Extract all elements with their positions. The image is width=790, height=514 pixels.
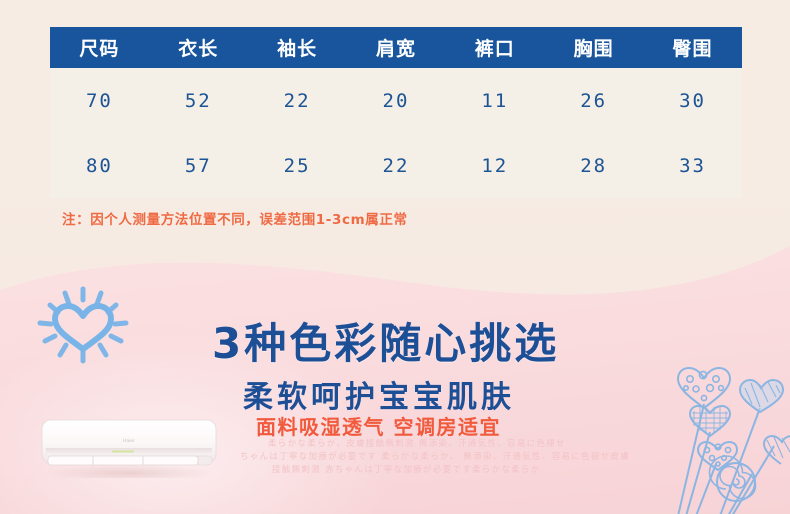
cell-length: 57 xyxy=(149,133,248,198)
cell-shoulder: 20 xyxy=(347,68,446,133)
column-header-length: 衣长 xyxy=(149,27,248,68)
column-header-bust: 胸围 xyxy=(544,27,643,68)
cell-sleeve: 25 xyxy=(248,133,347,198)
cell-cuff: 12 xyxy=(445,133,544,198)
cell-length: 52 xyxy=(149,68,248,133)
cell-hip: 30 xyxy=(643,68,742,133)
column-header-hip: 臀围 xyxy=(643,27,742,68)
heart-lollipops-decoration xyxy=(648,366,790,514)
table-header-row: 尺码 衣长 袖长 肩宽 裤口 胸围 臀围 xyxy=(50,27,742,68)
cell-size: 80 xyxy=(50,133,149,198)
cell-cuff: 11 xyxy=(445,68,544,133)
size-chart-table: 尺码 衣长 袖长 肩宽 裤口 胸围 臀围 70 52 22 20 11 26 xyxy=(50,27,742,198)
table-row: 80 57 25 22 12 28 33 xyxy=(50,133,742,198)
table-row: 70 52 22 20 11 26 30 xyxy=(50,68,742,133)
cell-shoulder: 22 xyxy=(347,133,446,198)
cell-sleeve: 22 xyxy=(248,68,347,133)
page-title: 3种色彩随心挑选 xyxy=(212,310,559,371)
svg-text:Haier: Haier xyxy=(123,438,135,444)
column-header-cuff: 裤口 xyxy=(445,27,544,68)
measurement-note: 注：因个人测量方法位置不同，误差范围1-3cm属正常 xyxy=(62,208,408,228)
column-header-shoulder: 肩宽 xyxy=(347,27,446,68)
decorative-text-line-2: ちゃんは丁寧な加療が必要です 柔らかな柔らか、 無添染、汗通気性、容易に色褪せ皮… xyxy=(240,450,630,462)
column-header-size: 尺码 xyxy=(50,27,149,68)
sparkle-heart-icon xyxy=(24,283,142,365)
cell-hip: 33 xyxy=(643,133,742,198)
promo-tagline: 面料吸湿透气 空调房适宜 xyxy=(256,411,501,440)
column-header-sleeve: 袖长 xyxy=(248,27,347,68)
promo-subtitle: 柔软呵护宝宝肌肤 xyxy=(243,372,515,416)
air-conditioner-image: Haier xyxy=(38,418,220,478)
cell-bust: 26 xyxy=(544,68,643,133)
decorative-text-line-1: 柔らかな柔らか、皮膚接触無刺激 無添染、汗通気性、容易に色褪せ xyxy=(268,437,566,449)
promo-page: 尺码 衣长 袖长 肩宽 裤口 胸围 臀围 70 52 22 20 11 26 xyxy=(0,0,790,514)
decorative-text-line-3: 接触無刺激 赤ちゃんは丁寧な加療が必要です柔らかな柔らか xyxy=(272,463,541,475)
cell-size: 70 xyxy=(50,68,149,133)
cell-bust: 28 xyxy=(544,133,643,198)
